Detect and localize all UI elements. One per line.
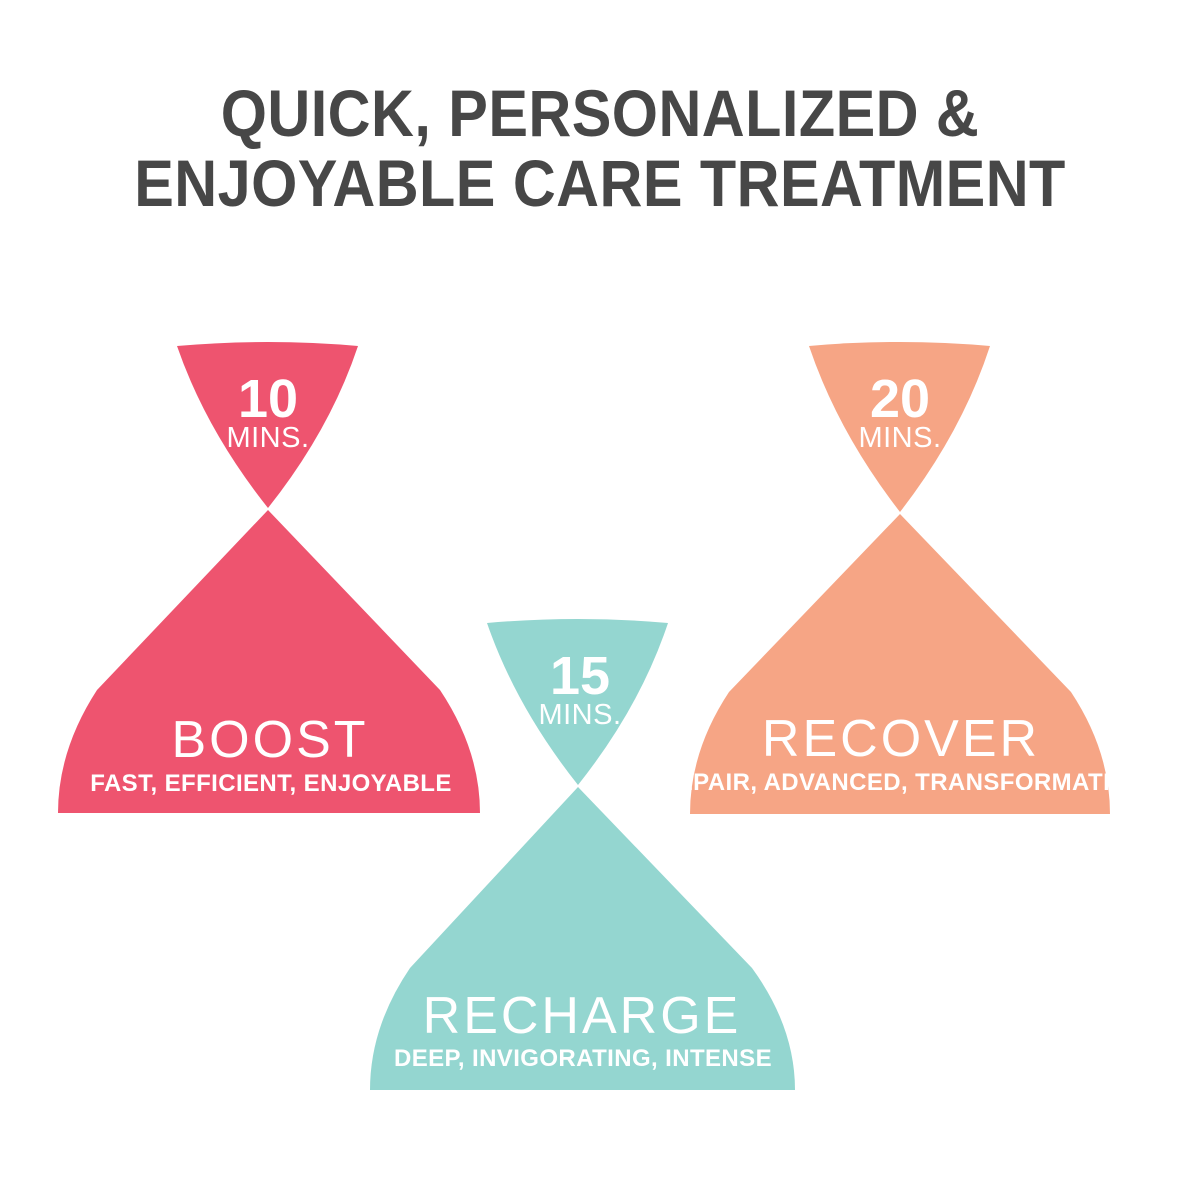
boost-stage-name: BOOST	[171, 711, 368, 769]
hourglass-boost[interactable]: 10 MINS. BOOST FAST, EFFICIENT, ENJOYABL…	[58, 342, 480, 813]
recover-duration-value: 20	[870, 369, 930, 429]
boost-stage-description: FAST, EFFICIENT, ENJOYABLE	[90, 770, 452, 797]
infographic-canvas: QUICK, PERSONALIZED & ENJOYABLE CARE TRE…	[0, 0, 1200, 1200]
recover-duration-unit: MINS.	[858, 422, 941, 454]
recharge-stage-name: RECHARGE	[423, 987, 742, 1045]
hourglass-recover[interactable]: 20 MINS. RECOVER REPAIR, ADVANCED, TRANS…	[659, 342, 1143, 814]
hourglass-diagram: 10 MINS. BOOST FAST, EFFICIENT, ENJOYABL…	[0, 0, 1200, 1200]
boost-duration-value: 10	[238, 369, 298, 429]
recharge-stage-description: DEEP, INVIGORATING, INTENSE	[394, 1045, 772, 1072]
recharge-duration-unit: MINS.	[538, 699, 621, 731]
recover-stage-name: RECOVER	[762, 710, 1040, 768]
recharge-duration-value: 15	[550, 646, 610, 706]
recover-stage-description: REPAIR, ADVANCED, TRANSFORMATIVE	[659, 769, 1143, 796]
boost-duration-unit: MINS.	[226, 422, 309, 454]
